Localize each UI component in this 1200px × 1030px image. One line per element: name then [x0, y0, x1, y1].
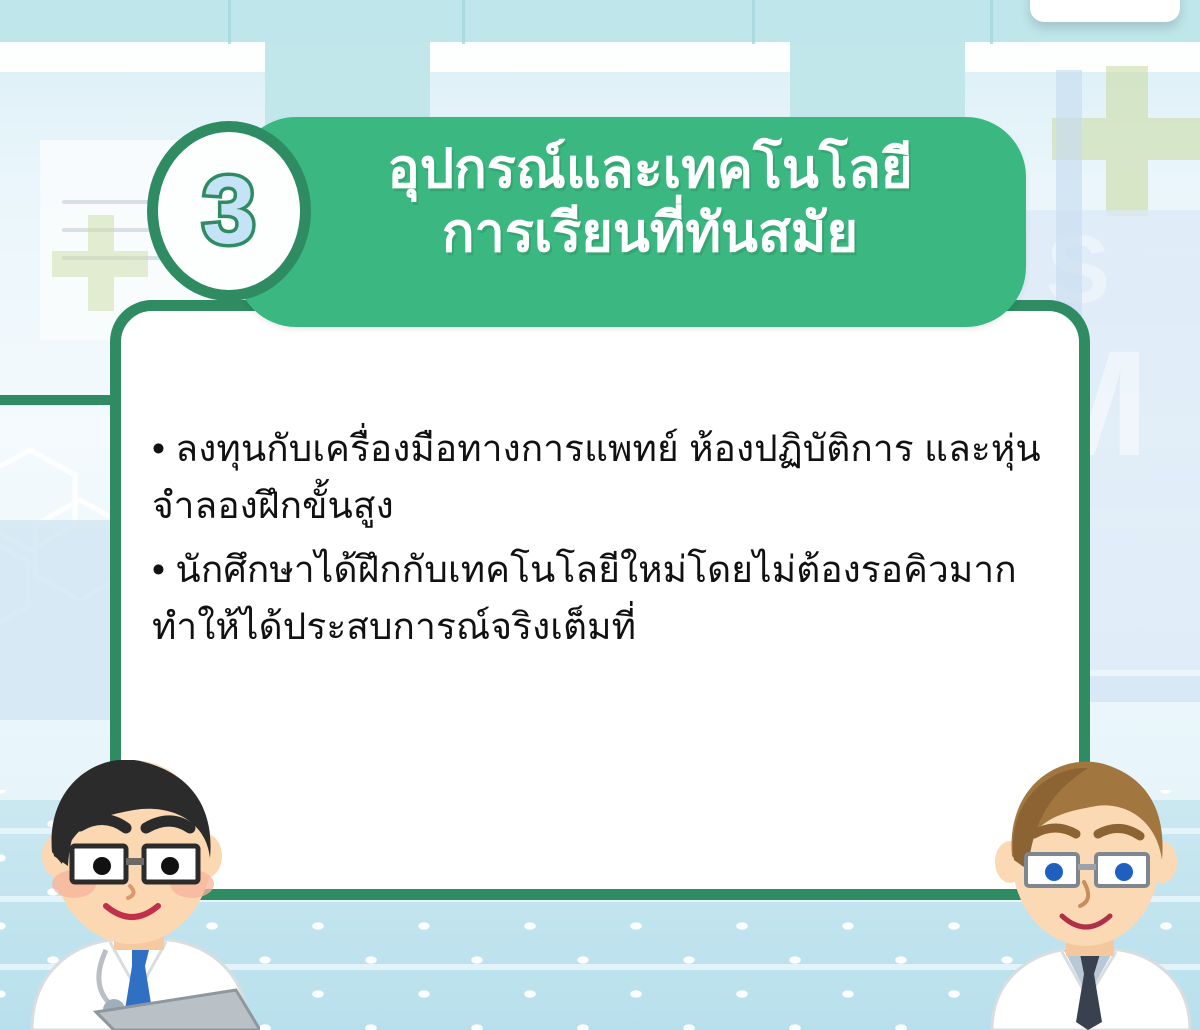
- page-title-line-2: การเรียนที่ทันสมัย: [300, 202, 1000, 266]
- accent-line-left: [0, 395, 120, 405]
- background-top-band: [0, 0, 1200, 42]
- background-cabinet-divider-3: [752, 0, 755, 44]
- page-title-line-1: อุปกรณ์และเทคโนโลยี: [300, 138, 1000, 202]
- background-cabinet-divider-2: [462, 0, 465, 44]
- list-item: • ลงทุนกับเครื่องมือทางการแพทย์ ห้องปฏิบ…: [152, 420, 1072, 535]
- list-item: • นักศึกษาได้ฝึกกับเทคโนโลยีใหม่โดยไม่ต้…: [152, 541, 1072, 656]
- background-top-right-card: [1030, 0, 1180, 22]
- avatar-doctor-right: [984, 760, 1194, 1030]
- step-number-badge: 3: [147, 121, 311, 301]
- step-number-label: 3: [202, 163, 255, 259]
- bullet-list: • ลงทุนกับเครื่องมือทางการแพทย์ ห้องปฏิบ…: [152, 420, 1072, 661]
- background-cabinet-divider-1: [228, 0, 231, 44]
- avatar-doctor-left: [10, 760, 260, 1030]
- background-cabinet-divider-4: [990, 0, 993, 44]
- background-top-white-strip: [0, 42, 1200, 72]
- cross-icon-left: [52, 215, 148, 311]
- poster-stage: S M • ลงทุนกับเครื่องมือทางการแพทย์ ห้อง…: [0, 0, 1200, 1030]
- page-title: อุปกรณ์และเทคโนโลยี การเรียนที่ทันสมัย: [300, 138, 1000, 265]
